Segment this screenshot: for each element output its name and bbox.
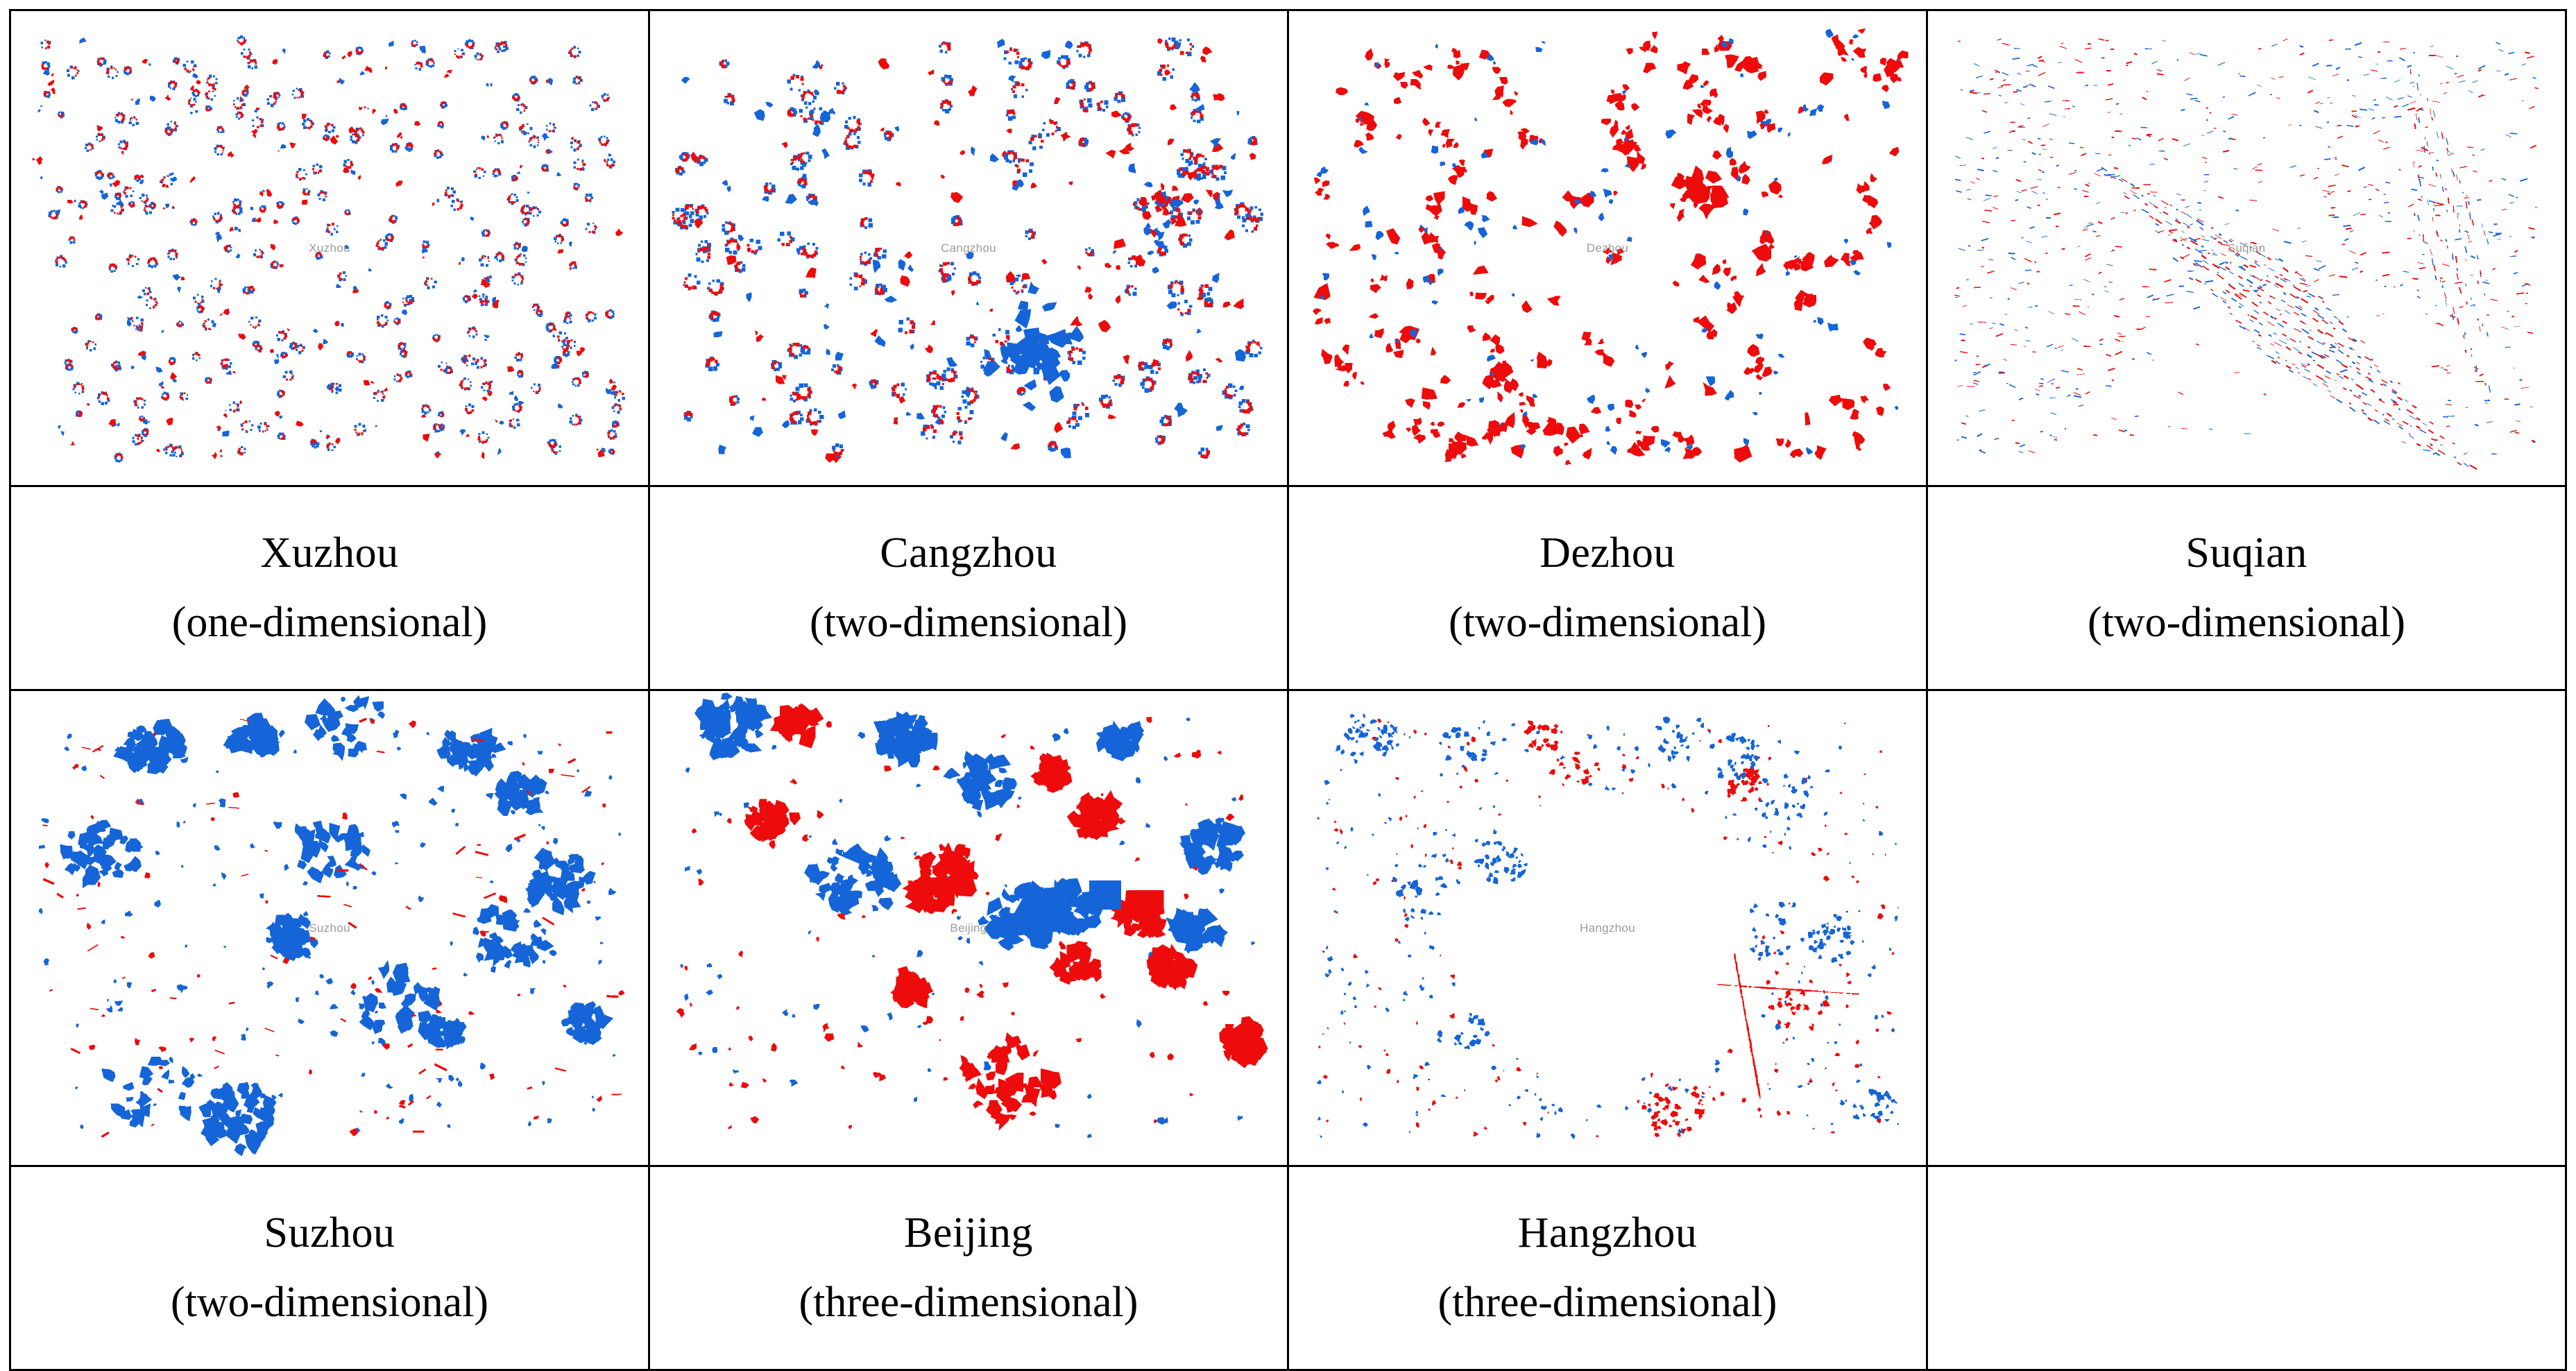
map-suqian: Suqian: [1928, 11, 2565, 485]
map-city-label: Beijing: [950, 921, 987, 935]
city-comparison-table: Xuzhou Cangzhou Dezhou Suqian Xuzhou (on…: [9, 9, 2567, 1371]
map-cell-hangzhou: Hangzhou: [1288, 690, 1927, 1166]
map-cell-dezhou: Dezhou: [1288, 10, 1927, 486]
caption-cell-cangzhou: Cangzhou (two-dimensional): [649, 486, 1288, 690]
caption-cell-dezhou: Dezhou (two-dimensional): [1288, 486, 1927, 690]
caption-cell-empty: [1927, 1166, 2566, 1370]
city-dimension-suqian: (two-dimensional): [2088, 600, 2405, 645]
map-row-top: Xuzhou Cangzhou Dezhou Suqian: [10, 10, 2566, 486]
map-cangzhou: Cangzhou: [650, 11, 1287, 485]
map-cell-cangzhou: Cangzhou: [649, 10, 1288, 486]
city-name-dezhou: Dezhou: [1539, 531, 1675, 576]
caption-cell-suqian: Suqian (two-dimensional): [1927, 486, 2566, 690]
city-name-beijing: Beijing: [904, 1211, 1033, 1256]
city-name-xuzhou: Xuzhou: [260, 531, 398, 576]
city-dimension-xuzhou: (one-dimensional): [172, 600, 488, 645]
city-dimension-hangzhou: (three-dimensional): [1438, 1280, 1777, 1325]
city-dimension-suzhou: (two-dimensional): [171, 1280, 488, 1325]
map-dezhou: Dezhou: [1289, 11, 1926, 485]
map-cell-xuzhou: Xuzhou: [10, 10, 649, 486]
map-city-label: Suqian: [2228, 241, 2266, 255]
map-beijing: Beijing: [650, 691, 1287, 1165]
city-dimension-dezhou: (two-dimensional): [1449, 600, 1766, 645]
map-city-label: Hangzhou: [1580, 921, 1635, 935]
map-xuzhou: Xuzhou: [11, 11, 648, 485]
caption-row-bottom: Suzhou (two-dimensional) Beijing (three-…: [10, 1166, 2566, 1370]
empty-placeholder: [1928, 691, 2565, 1165]
caption-cell-xuzhou: Xuzhou (one-dimensional): [10, 486, 649, 690]
city-dimension-cangzhou: (two-dimensional): [810, 600, 1127, 645]
caption-row-top: Xuzhou (one-dimensional) Cangzhou (two-d…: [10, 486, 2566, 690]
map-row-bottom: Suzhou Beijing Hangzhou: [10, 690, 2566, 1166]
map-cell-beijing: Beijing: [649, 690, 1288, 1166]
city-name-suqian: Suqian: [2185, 531, 2307, 576]
city-name-hangzhou: Hangzhou: [1518, 1211, 1698, 1256]
caption-cell-suzhou: Suzhou (two-dimensional): [10, 1166, 649, 1370]
caption-cell-beijing: Beijing (three-dimensional): [649, 1166, 1288, 1370]
map-city-label: Suzhou: [309, 921, 350, 935]
map-cell-suzhou: Suzhou: [10, 690, 649, 1166]
map-city-label: Cangzhou: [941, 241, 996, 255]
map-cell-suqian: Suqian: [1927, 10, 2566, 486]
city-dimension-beijing: (three-dimensional): [799, 1280, 1138, 1325]
map-hangzhou: Hangzhou: [1289, 691, 1926, 1165]
map-city-label: Dezhou: [1587, 241, 1628, 255]
map-cell-empty: [1927, 690, 2566, 1166]
city-name-cangzhou: Cangzhou: [880, 531, 1057, 576]
map-city-label: Xuzhou: [309, 241, 350, 255]
city-name-suzhou: Suzhou: [264, 1211, 395, 1256]
map-suzhou: Suzhou: [11, 691, 648, 1165]
caption-cell-hangzhou: Hangzhou (three-dimensional): [1288, 1166, 1927, 1370]
figure-sheet: Xuzhou Cangzhou Dezhou Suqian Xuzhou (on…: [0, 0, 2576, 1370]
